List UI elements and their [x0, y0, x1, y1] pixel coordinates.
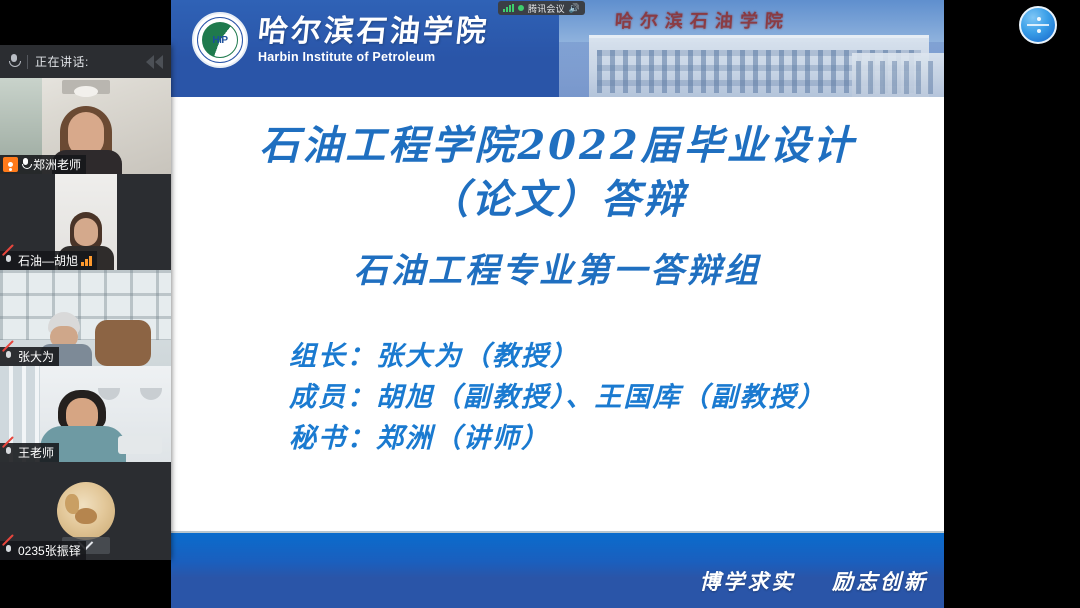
roster-line-members: 成员：胡旭（副教授）、王国库（副教授）: [289, 377, 944, 418]
header-divider: [27, 55, 28, 69]
participant-tile[interactable]: 王老师: [0, 366, 171, 462]
double-chevron-right-icon[interactable]: [146, 55, 163, 69]
participant-name: 王老师: [18, 444, 54, 461]
building-wing: [852, 53, 944, 97]
participant-label: 张大为: [0, 347, 59, 366]
slide-title: 石油工程学院2022届毕业设计 （论文）答辩: [171, 97, 944, 227]
participant-name: 0235张振铎: [18, 542, 81, 559]
slide-title-line-2: （论文）答辩: [171, 173, 944, 227]
participant-filmstrip[interactable]: 正在讲话: 郑洲老师: [0, 45, 171, 560]
green-status-dot: [518, 5, 524, 11]
defense-committee-roster: 组长：张大为（教授） 成员：胡旭（副教授）、王国库（副教授） 秘书：郑洲（讲师）: [171, 336, 944, 459]
participant-name: 石油—胡旭: [18, 252, 78, 269]
roster-line-secretary: 秘书：郑洲（讲师）: [289, 418, 944, 459]
microphone-muted-icon: [3, 254, 15, 267]
speaking-status-header: 正在讲话:: [0, 45, 171, 78]
university-seal-icon: HIP: [192, 12, 248, 68]
speaker-icon[interactable]: 🔊: [569, 3, 580, 14]
microphone-on-icon: [21, 158, 30, 171]
participant-tile[interactable]: 0235张振铎: [0, 462, 171, 560]
microphone-muted-icon: [3, 446, 15, 459]
slide-footer-band: 博学求实 励志创新: [171, 531, 944, 608]
participant-name: 郑洲老师: [33, 156, 81, 173]
floating-window-button[interactable]: [1019, 6, 1057, 44]
float-button-glyph: [1027, 24, 1049, 26]
slide-title-line-1: 石油工程学院2022届毕业设计: [171, 119, 944, 173]
float-button-dot-top: [1037, 17, 1041, 21]
microphone-muted-icon: [3, 350, 15, 363]
speaking-status-label: 正在讲话:: [35, 53, 89, 70]
participant-label: 王老师: [0, 443, 59, 462]
signal-strength-icon: [81, 256, 92, 266]
shared-screen-slide: 哈尔滨石油学院 HIP 哈尔滨石油学院 Harbin Institute of …: [171, 0, 944, 608]
host-person-icon: [3, 157, 18, 172]
participant-tile[interactable]: 张大为: [0, 270, 171, 366]
microphone-icon: [8, 54, 20, 69]
motto-part-right: 励志创新: [832, 569, 928, 594]
university-motto: 博学求实 励志创新: [699, 566, 928, 596]
seal-inner-label: HIP: [202, 22, 238, 58]
slide-subtitle: 石油工程专业第一答辩组: [171, 243, 944, 292]
microphone-muted-icon: [3, 544, 15, 557]
participant-tile[interactable]: 郑洲老师: [0, 78, 171, 174]
meeting-status-pill[interactable]: 腾讯会议 🔊: [498, 1, 585, 15]
campus-building-photo: 哈尔滨石油学院: [559, 0, 944, 97]
dog-avatar-image: [57, 482, 115, 540]
university-name-en: Harbin Institute of Petroleum: [258, 50, 489, 64]
participant-name: 张大为: [18, 348, 54, 365]
motto-part-left: 博学求实: [699, 569, 795, 594]
participant-tile[interactable]: 石油—胡旭: [0, 174, 171, 270]
signal-bars-icon: [503, 4, 514, 12]
meeting-app-label: 腾讯会议: [528, 2, 565, 15]
brand-text-block: 哈尔滨石油学院 Harbin Institute of Petroleum: [258, 16, 489, 64]
participant-label: 郑洲老师: [0, 155, 86, 174]
university-name-cn: 哈尔滨石油学院: [256, 16, 490, 48]
campus-roof-text: 哈尔滨石油学院: [614, 7, 791, 33]
slide-body: 石油工程学院2022届毕业设计 （论文）答辩 石油工程专业第一答辩组 组长：张大…: [171, 97, 944, 531]
float-button-dot-bottom: [1037, 29, 1041, 33]
roster-line-chair: 组长：张大为（教授）: [289, 336, 944, 377]
university-brand: HIP 哈尔滨石油学院 Harbin Institute of Petroleu…: [192, 12, 489, 68]
participant-label: 0235张振铎: [0, 541, 86, 560]
participant-label: 石油—胡旭: [0, 251, 97, 270]
screen-root: 哈尔滨石油学院 HIP 哈尔滨石油学院 Harbin Institute of …: [0, 0, 1080, 608]
